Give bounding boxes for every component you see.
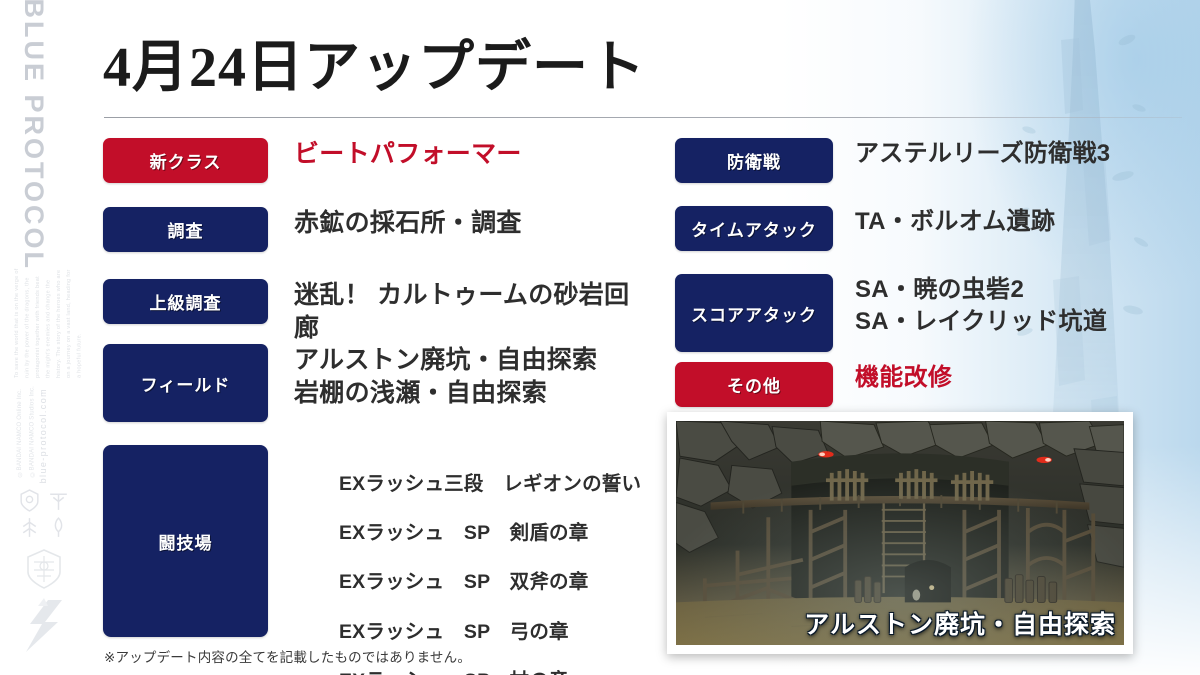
guild-emblem-3-icon	[16, 515, 43, 540]
category-badge-investigation[interactable]: 調査	[103, 207, 268, 252]
blue-protocol-logo: BLUE PROTOCOL	[10, 10, 58, 260]
page-title: 4月24日アップデート	[103, 22, 646, 103]
content-text-investigation: 赤鉱の採石所・調査	[268, 207, 648, 240]
category-badge-defense-battle[interactable]: 防衛戦	[675, 138, 833, 183]
category-badge-new-class[interactable]: 新クラス	[103, 138, 268, 183]
category-badge-advanced-investigation[interactable]: 上級調査	[103, 279, 268, 324]
content-text-advanced-investigation: 迷乱！ カルトゥームの砂岩回廊	[268, 279, 648, 345]
guild-emblem-4-icon	[45, 515, 72, 540]
footnote-text: ※アップデート内容の全てを記載したものではありません。	[104, 646, 471, 666]
brand-rail: BLUE PROTOCOL To save the world that is …	[0, 0, 90, 675]
content-text-field: アルストン廃坑・自由探索 岩棚の浅瀬・自由探索	[268, 344, 648, 410]
content-row-advanced-investigation: 上級調査 迷乱！ カルトゥームの砂岩回廊	[103, 279, 648, 345]
category-badge-score-attack[interactable]: スコアアタック	[675, 274, 833, 352]
arena-line: EXラッシュ SP 双斧の章	[339, 571, 588, 593]
content-row-time-attack: タイムアタック TA・ボルオム遺跡	[675, 206, 1180, 251]
content-text-time-attack: TA・ボルオム遺跡	[833, 206, 1180, 238]
content-text-other: 機能改修	[833, 362, 1180, 394]
guild-emblem-2-icon	[45, 488, 72, 513]
category-badge-time-attack[interactable]: タイムアタック	[675, 206, 833, 251]
update-announcement-slide: BLUE PROTOCOL To save the world that is …	[0, 0, 1200, 675]
header-divider	[104, 117, 1182, 118]
copyright-text: ©BANDAI NAMCO Online Inc. ©BANDAI NAMCO …	[14, 386, 39, 477]
arena-line: EXラッシュ三段 レギオンの誓い	[339, 473, 641, 495]
content-row-investigation: 調査 赤鉱の採石所・調査	[103, 207, 648, 252]
guild-emblem-1-icon	[16, 488, 43, 513]
category-badge-field[interactable]: フィールド	[103, 344, 268, 422]
content-text-new-class: ビートパフォーマー	[268, 138, 648, 171]
content-row-new-class: 新クラス ビートパフォーマー	[103, 138, 648, 183]
brand-website-url: blue-protocol.com	[38, 388, 48, 483]
arena-line: EXラッシュ SP 杖の章	[339, 670, 569, 675]
crest-emblem-icon	[24, 548, 64, 590]
content-row-score-attack: スコアアタック SA・暁の虫砦2 SA・レイクリッド坑道	[675, 274, 1180, 352]
content-text-score-attack: SA・暁の虫砦2 SA・レイクリッド坑道	[833, 274, 1180, 337]
content-text-arena: EXラッシュ三段 レギオンの誓い EXラッシュ SP 剣盾の章 EXラッシュ S…	[268, 445, 648, 675]
category-badge-other[interactable]: その他	[675, 362, 833, 407]
content-row-arena: 闘技場 EXラッシュ三段 レギオンの誓い EXラッシュ SP 剣盾の章 EXラッ…	[103, 445, 648, 675]
content-row-defense-battle: 防衛戦 アステルリーズ防衛戦3	[675, 138, 1180, 183]
content-row-field: フィールド アルストン廃坑・自由探索 岩棚の浅瀬・自由探索	[103, 344, 648, 422]
guild-emblems-group	[16, 488, 72, 540]
arena-line: EXラッシュ SP 剣盾の章	[339, 522, 588, 544]
content-row-other: その他 機能改修	[675, 362, 1180, 407]
category-badge-arena[interactable]: 闘技場	[103, 445, 268, 637]
screenshot-thumbnail-image: アルストン廃坑・自由探索	[676, 421, 1124, 645]
brand-blurb-text: To save the world that is on the verge o…	[12, 268, 85, 378]
bp-mark-icon	[18, 596, 70, 658]
blue-protocol-logo-text: BLUE PROTOCOL	[19, 0, 50, 271]
arena-line: EXラッシュ SP 弓の章	[339, 621, 569, 643]
content-text-defense-battle: アステルリーズ防衛戦3	[833, 138, 1180, 170]
screenshot-thumbnail-frame[interactable]: アルストン廃坑・自由探索	[667, 412, 1133, 654]
screenshot-caption: アルストン廃坑・自由探索	[804, 605, 1116, 641]
